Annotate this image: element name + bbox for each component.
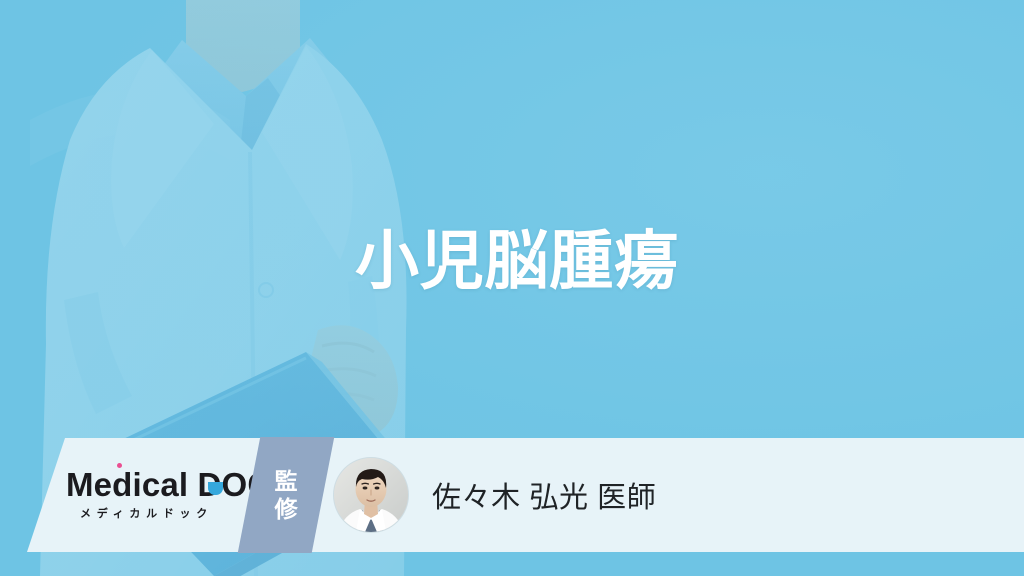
- doctor-name: 佐々木 弘光 医師: [432, 438, 656, 552]
- brand-wordmark: Medical DOC: [66, 468, 256, 501]
- credit-bar: Medical DOC メディカルドック 監 修: [0, 438, 1024, 552]
- logo-accent-dot-icon: [117, 463, 122, 468]
- supervision-label-char-1: 監: [275, 469, 298, 494]
- supervision-label: 監 修: [249, 437, 323, 553]
- brand-reading: メディカルドック: [66, 509, 256, 520]
- supervision-band: 監 修: [238, 437, 335, 553]
- brand-logo[interactable]: Medical DOC メディカルドック: [66, 468, 256, 520]
- supervision-label-char-2: 修: [275, 497, 298, 522]
- page-title: 小児脳腫瘍: [355, 228, 679, 295]
- slide-canvas: 小児脳腫瘍 Medical DOC メディカルドック 監 修: [0, 0, 1024, 576]
- logo-beaker-icon: [208, 482, 223, 495]
- avatar: [334, 458, 408, 532]
